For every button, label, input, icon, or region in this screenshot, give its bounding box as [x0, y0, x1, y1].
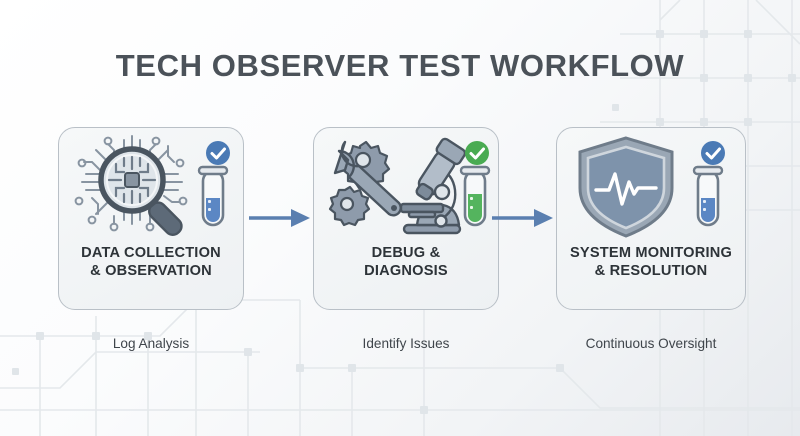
caption-identify-issues: Identify Issues	[313, 336, 499, 351]
step-card-system-monitoring[interactable]: SYSTEM MONITORING & RESOLUTION	[556, 127, 746, 310]
test-tube-icon	[199, 167, 227, 225]
step-captions: Log Analysis Identify Issues Continuous …	[0, 336, 800, 358]
step-2-artwork	[314, 128, 498, 246]
step-card-data-collection[interactable]: DATA COLLECTION & OBSERVATION	[58, 127, 244, 310]
caption-continuous-oversight: Continuous Oversight	[556, 336, 746, 351]
step-1-label: DATA COLLECTION & OBSERVATION	[81, 244, 221, 280]
test-tube-icon	[461, 167, 489, 225]
arrow-right-icon-2	[492, 207, 554, 229]
workflow-infographic: TECH OBSERVER TEST WORKFLOW	[0, 0, 800, 436]
step-2-label: DEBUG & DIAGNOSIS	[364, 244, 448, 280]
test-tube-icon	[694, 167, 722, 225]
workflow-steps: DATA COLLECTION & OBSERVATION	[0, 127, 800, 310]
magnifier-lens	[101, 149, 163, 211]
step-3-label: SYSTEM MONITORING & RESOLUTION	[570, 244, 732, 280]
step-3-artwork	[557, 128, 745, 246]
check-badge-icon	[465, 141, 489, 165]
arrow-right-icon-1	[249, 207, 311, 229]
check-badge-icon	[701, 141, 725, 165]
step-card-debug-diagnosis[interactable]: DEBUG & DIAGNOSIS	[313, 127, 499, 310]
page-title: TECH OBSERVER TEST WORKFLOW	[0, 48, 800, 84]
shield-pulse-icon	[580, 138, 672, 236]
step-1-artwork	[59, 128, 243, 246]
check-badge-icon	[206, 141, 230, 165]
microscope-icon	[401, 137, 467, 233]
caption-log-analysis: Log Analysis	[58, 336, 244, 351]
